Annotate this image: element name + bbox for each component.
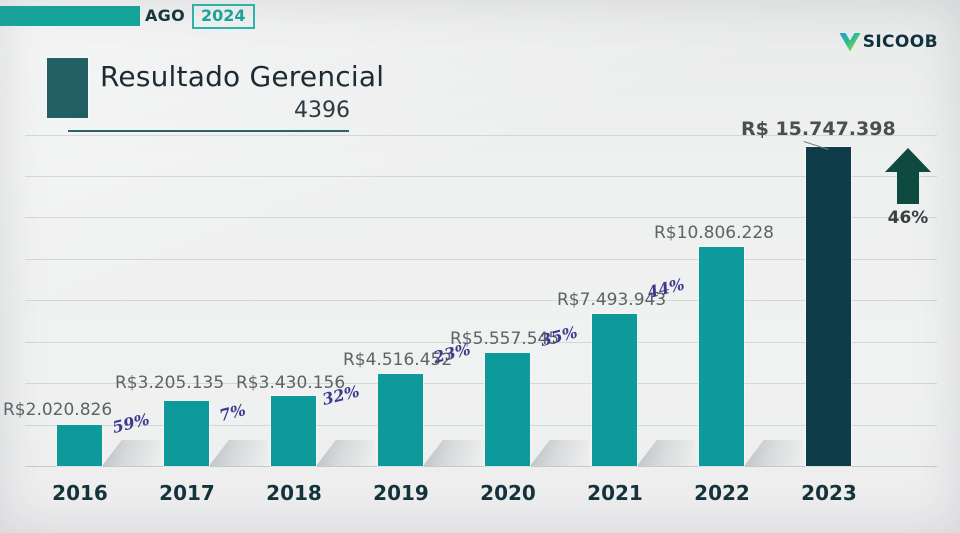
- chart-baseline: [25, 466, 937, 467]
- bar-shadow: [637, 440, 695, 466]
- bar-2021[interactable]: [592, 314, 637, 466]
- bar-2022[interactable]: [699, 247, 744, 466]
- title-color-swatch: [47, 58, 88, 118]
- gridline: [25, 425, 937, 426]
- sicoob-v-logo-icon: [839, 32, 861, 52]
- xlabel-2016: 2016: [30, 481, 130, 505]
- gridline: [25, 259, 937, 260]
- bar-shadow: [423, 440, 481, 466]
- header-month-label: AGO: [145, 6, 185, 26]
- bar-2019[interactable]: [378, 374, 423, 466]
- growth-label-2022: 44%: [645, 274, 686, 302]
- page-subtitle-code: 4396: [100, 98, 350, 123]
- growth-label-2020: 23%: [431, 339, 472, 367]
- header-accent-band: [0, 6, 140, 26]
- growth-arrow-label: 46%: [880, 208, 936, 228]
- value-label-2016: R$2.020.826: [3, 400, 112, 420]
- growth-arrow-group: 46%: [880, 146, 936, 228]
- value-label-2023: R$ 15.747.398: [741, 118, 896, 140]
- growth-label-2018: 7%: [217, 400, 247, 425]
- bar-2020[interactable]: [485, 353, 530, 466]
- value-label-2022: R$10.806.228: [654, 223, 774, 243]
- page-title: Resultado Gerencial: [100, 60, 384, 93]
- bar-2017[interactable]: [164, 401, 209, 466]
- slide-canvas: AGO 2024 SICOOB Resultado Gerencial 4396: [0, 0, 960, 533]
- xlabel-2023: 2023: [779, 481, 879, 505]
- up-arrow-icon: [880, 146, 936, 206]
- bar-shadow: [209, 440, 267, 466]
- xlabel-2020: 2020: [458, 481, 558, 505]
- gridline: [25, 176, 937, 177]
- xlabel-2018: 2018: [244, 481, 344, 505]
- growth-label-2021: 35%: [538, 322, 579, 350]
- growth-label-2017: 59%: [110, 409, 151, 437]
- bar-shadow: [530, 440, 588, 466]
- bar-shadow: [744, 440, 802, 466]
- xlabel-2022: 2022: [672, 481, 772, 505]
- title-divider: [68, 130, 349, 132]
- chart-plot-area: R$2.020.826 R$3.205.135 R$3.430.156 R$4.…: [25, 135, 937, 467]
- xlabel-2021: 2021: [565, 481, 665, 505]
- gridline: [25, 300, 937, 301]
- gridline: [25, 217, 937, 218]
- bar-shadow: [102, 440, 160, 466]
- bar-2018[interactable]: [271, 396, 316, 466]
- bar-2023[interactable]: [806, 147, 851, 466]
- brand-name: SICOOB: [863, 32, 938, 52]
- brand-logo: SICOOB: [839, 32, 938, 52]
- bar-shadow: [316, 440, 374, 466]
- bar-2016[interactable]: [57, 425, 102, 466]
- xlabel-2017: 2017: [137, 481, 237, 505]
- value-label-2017: R$3.205.135: [115, 373, 224, 393]
- xlabel-2019: 2019: [351, 481, 451, 505]
- header-year-badge: 2024: [192, 4, 255, 29]
